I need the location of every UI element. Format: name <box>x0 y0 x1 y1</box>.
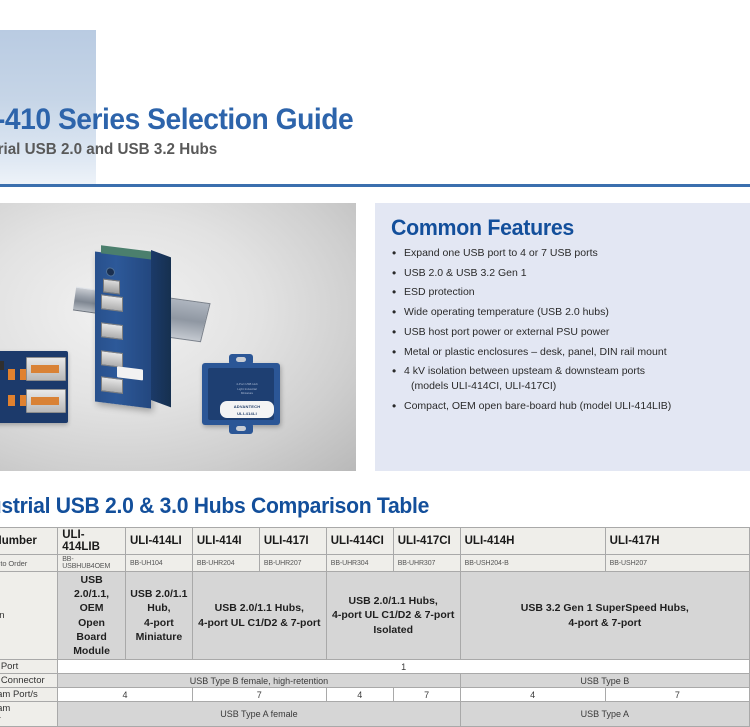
hub-upstream-usb-b-port <box>103 279 120 295</box>
comparison-table-title: Industrial USB 2.0 & 3.0 Hubs Comparison… <box>0 493 429 519</box>
pcb-usb-a-port <box>26 357 66 381</box>
mini-hub-body: 4-Port USB HubLight IndustrialMiniature … <box>208 368 274 420</box>
mini-hub-fine-print: 4-Port USB HubLight IndustrialMiniature <box>226 382 268 396</box>
cell-upstream-port: 1 <box>58 660 750 674</box>
hub-side-face <box>151 250 171 407</box>
cell-downstream-connector: USB Type A female <box>58 702 460 727</box>
cell-downstream-ports: 7 <box>393 688 460 702</box>
row-label-model-number: Model Number <box>0 528 58 555</box>
cell-description: USB 2.0/1.1,OEMOpen BoardModule <box>58 572 126 660</box>
row-label-downstream-connector: Downstream Connector <box>0 702 58 727</box>
hub-downstream-usb-a-port <box>101 294 123 312</box>
row-label-upstream-connector: Upstream Connector <box>0 674 58 688</box>
feature-item: Wide operating temperature (USB 2.0 hubs… <box>391 306 734 319</box>
pcb-usb-a-port <box>26 389 66 413</box>
mini-hub-mounting-tab <box>229 354 253 365</box>
pcb-chip <box>0 361 4 370</box>
table-row-model-number: Model Number ULI-414LIBULI-414LIULI-414I… <box>0 528 750 555</box>
cell-part-number: BB-UHR307 <box>393 555 460 572</box>
cell-part-number: BB-USH207 <box>605 555 749 572</box>
hub-downstream-usb-a-port <box>101 322 123 340</box>
mini-hub-label-brand: ADVANTECH <box>220 403 274 410</box>
column-header-model: ULI-414I <box>192 528 259 555</box>
feature-item: ESD protection <box>391 286 734 299</box>
mini-hub-mounting-tab <box>229 423 253 434</box>
row-label-upstream-port: Upstream Port <box>0 660 58 674</box>
table-row-part-number: Part Number to Order BB-USBHUB4OEMBB-UH1… <box>0 555 750 572</box>
column-header-model: ULI-414CI <box>326 528 393 555</box>
cell-downstream-ports: 4 <box>326 688 393 702</box>
row-label-description: Description <box>0 572 58 660</box>
table-row-upstream-port: Upstream Port 1 <box>0 660 750 674</box>
cell-downstream-connector: USB Type A <box>460 702 749 727</box>
feature-item: Metal or plastic enclosures – desk, pane… <box>391 346 734 359</box>
product-open-board-module-image <box>0 351 68 423</box>
hub-downstream-usb-a-port <box>101 350 123 368</box>
hub-top-cap <box>101 245 151 259</box>
pcb-capacitor <box>8 395 15 406</box>
cell-part-number: BB-UHR304 <box>326 555 393 572</box>
row-label-downstream-ports: Downstream Port/s <box>0 688 58 702</box>
comparison-table-body: Model Number ULI-414LIBULI-414LIULI-414I… <box>0 528 750 727</box>
cell-part-number: BB-USBHUB4OEM <box>58 555 126 572</box>
table-row-description: Description USB 2.0/1.1,OEMOpen BoardMod… <box>0 572 750 660</box>
cell-downstream-ports: 7 <box>192 688 326 702</box>
mini-hub-label-model: ULI-414LI <box>220 410 274 417</box>
document-header: ULI-410 Series Selection Guide Industria… <box>0 104 572 159</box>
feature-item: 4 kV isolation between upsteam & downste… <box>391 365 734 378</box>
cell-part-number: BB-UHR204 <box>192 555 259 572</box>
common-features-list: Expand one USB port to 4 or 7 USB portsU… <box>391 247 734 413</box>
feature-item: USB 2.0 & USB 3.2 Gen 1 <box>391 267 734 280</box>
cell-downstream-ports: 4 <box>58 688 193 702</box>
cell-description: USB 2.0/1.1 Hubs,4-port UL C1/D2 & 7-por… <box>192 572 326 660</box>
product-photo-panel: 4-Port USB HubLight IndustrialMiniature … <box>0 203 356 471</box>
hub-led-indicator <box>106 267 115 277</box>
hubs-comparison-table: Model Number ULI-414LIBULI-414LIULI-414I… <box>0 527 750 727</box>
pcb-capacitor <box>8 369 15 380</box>
feature-item: USB host port power or external PSU powe… <box>391 326 734 339</box>
column-header-model: ULI-417CI <box>393 528 460 555</box>
cell-upstream-connector: USB Type B female, high-retention <box>58 674 460 688</box>
column-header-model: ULI-414LI <box>125 528 192 555</box>
common-features-panel: Common Features Expand one USB port to 4… <box>375 203 750 471</box>
product-miniature-hub-image: 4-Port USB HubLight IndustrialMiniature … <box>202 363 280 425</box>
column-header-model: ULI-414H <box>460 528 605 555</box>
cell-downstream-ports: 7 <box>605 688 749 702</box>
common-features-title: Common Features <box>391 215 724 241</box>
feature-item: Compact, OEM open bare-board hub (model … <box>391 400 734 413</box>
cell-description: USB 3.2 Gen 1 SuperSpeed Hubs,4-port & 7… <box>460 572 749 660</box>
cell-part-number: BB-UHR207 <box>259 555 326 572</box>
cell-part-number: BB-USH204-B <box>460 555 605 572</box>
cell-description: USB 2.0/1.1Hub,4-portMiniature <box>125 572 192 660</box>
column-header-model: ULI-414LIB <box>58 528 126 555</box>
table-row-upstream-connector: Upstream Connector USB Type B female, hi… <box>0 674 750 688</box>
product-din-rail-hub-image <box>95 252 151 409</box>
mini-hub-label: ADVANTECH ULI-414LI <box>220 401 274 418</box>
row-label-part-number: Part Number to Order <box>0 555 58 572</box>
page-subtitle: Industrial USB 2.0 and USB 3.2 Hubs <box>0 141 541 159</box>
feature-item: (models ULI-414CI, ULI-417CI) <box>391 380 734 393</box>
cell-description: USB 2.0/1.1 Hubs,4-port UL C1/D2 & 7-por… <box>326 572 460 660</box>
column-header-model: ULI-417I <box>259 528 326 555</box>
hub-downstream-usb-a-port <box>101 376 123 394</box>
feature-item: Expand one USB port to 4 or 7 USB ports <box>391 247 734 260</box>
column-header-model: ULI-417H <box>605 528 749 555</box>
table-row-downstream-connector: Downstream Connector USB Type A femaleUS… <box>0 702 750 727</box>
cell-upstream-connector: USB Type B <box>460 674 749 688</box>
cell-downstream-ports: 4 <box>460 688 605 702</box>
page-title: ULI-410 Series Selection Guide <box>0 104 535 136</box>
cell-part-number: BB-UH104 <box>125 555 192 572</box>
header-divider <box>0 184 750 187</box>
table-row-downstream-ports: Downstream Port/s 474747 <box>0 688 750 702</box>
